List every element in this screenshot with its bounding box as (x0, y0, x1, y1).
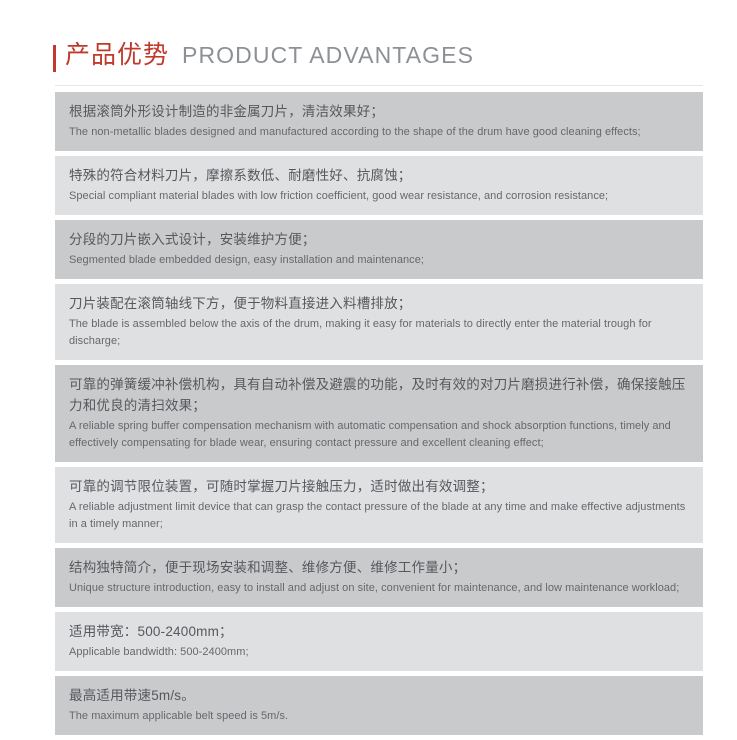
advantage-row: 适用带宽：500-2400mm；Applicable bandwidth: 50… (55, 612, 703, 671)
advantage-row: 分段的刀片嵌入式设计，安装维护方便；Segmented blade embedd… (55, 220, 703, 279)
page-title-cn: 产品优势 (65, 40, 169, 70)
advantage-text-cn: 刀片装配在滚筒轴线下方，便于物料直接进入料槽排放； (69, 293, 689, 314)
advantage-text-cn: 分段的刀片嵌入式设计，安装维护方便； (69, 229, 689, 250)
accent-bar-icon (53, 45, 56, 72)
page-title-en: PRODUCT ADVANTAGES (182, 40, 474, 70)
advantage-row: 可靠的调节限位装置，可随时掌握刀片接触压力，适时做出有效调整；A reliabl… (55, 467, 703, 543)
advantage-row: 结构独特简介，便于现场安装和调整、维修方便、维修工作量小；Unique stru… (55, 548, 703, 607)
advantage-text-en: Special compliant material blades with l… (69, 188, 689, 205)
advantage-row: 最高适用带速5m/s。The maximum applicable belt s… (55, 676, 703, 735)
product-advantages-page: 产品优势 PRODUCT ADVANTAGES 根据滚筒外形设计制造的非金属刀片… (0, 0, 737, 566)
advantage-text-cn: 可靠的调节限位装置，可随时掌握刀片接触压力，适时做出有效调整； (69, 476, 689, 497)
advantage-text-en: The blade is assembled below the axis of… (69, 316, 689, 350)
page-header: 产品优势 PRODUCT ADVANTAGES (53, 40, 474, 74)
advantage-row: 根据滚筒外形设计制造的非金属刀片，清洁效果好；The non-metallic … (55, 92, 703, 151)
advantage-text-cn: 适用带宽：500-2400mm； (69, 621, 689, 642)
advantage-text-en: Applicable bandwidth: 500-2400mm; (69, 644, 689, 661)
advantage-text-en: A reliable spring buffer compensation me… (69, 418, 689, 452)
advantage-row: 特殊的符合材料刀片，摩擦系数低、耐磨性好、抗腐蚀；Special complia… (55, 156, 703, 215)
header-divider (55, 85, 703, 86)
advantage-text-cn: 可靠的弹簧缓冲补偿机构，具有自动补偿及避震的功能，及时有效的对刀片磨损进行补偿，… (69, 374, 689, 416)
advantage-row: 刀片装配在滚筒轴线下方，便于物料直接进入料槽排放；The blade is as… (55, 284, 703, 360)
advantage-text-cn: 特殊的符合材料刀片，摩擦系数低、耐磨性好、抗腐蚀； (69, 165, 689, 186)
advantage-list: 根据滚筒外形设计制造的非金属刀片，清洁效果好；The non-metallic … (55, 92, 703, 740)
advantage-text-en: Segmented blade embedded design, easy in… (69, 252, 689, 269)
advantage-text-en: Unique structure introduction, easy to i… (69, 580, 689, 597)
advantage-text-cn: 最高适用带速5m/s。 (69, 685, 689, 706)
advantage-text-cn: 根据滚筒外形设计制造的非金属刀片，清洁效果好； (69, 101, 689, 122)
advantage-text-cn: 结构独特简介，便于现场安装和调整、维修方便、维修工作量小； (69, 557, 689, 578)
advantage-row: 可靠的弹簧缓冲补偿机构，具有自动补偿及避震的功能，及时有效的对刀片磨损进行补偿，… (55, 365, 703, 462)
advantage-text-en: The non-metallic blades designed and man… (69, 124, 689, 141)
advantage-text-en: The maximum applicable belt speed is 5m/… (69, 708, 689, 725)
advantage-text-en: A reliable adjustment limit device that … (69, 499, 689, 533)
